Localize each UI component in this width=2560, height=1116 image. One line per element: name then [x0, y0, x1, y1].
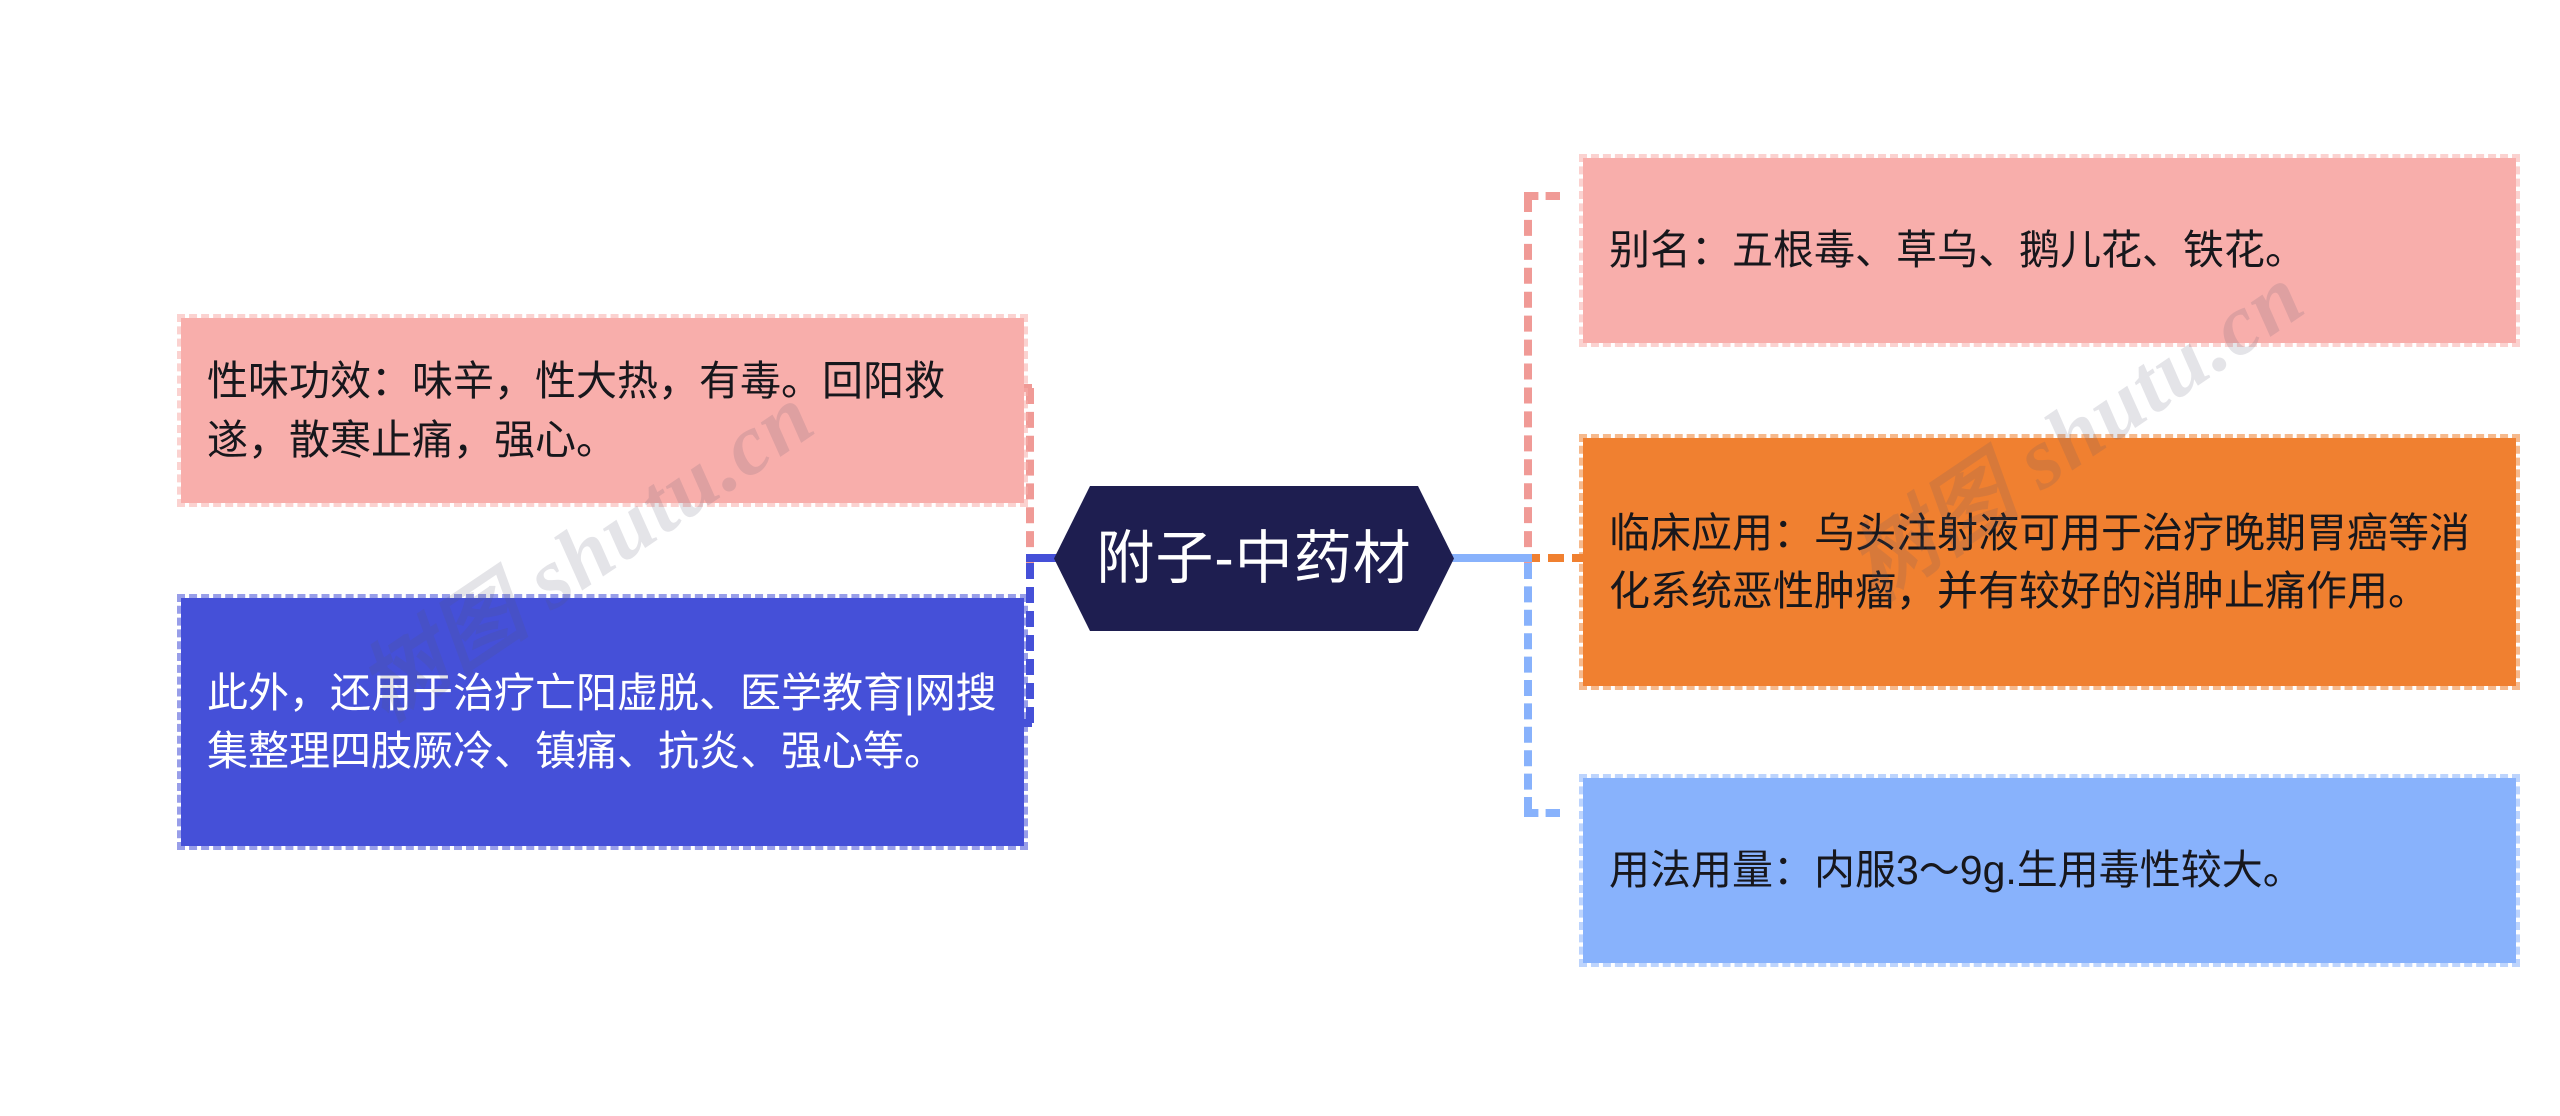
topic-label-linchuang-yingyong: 临床应用：乌头注射液可用于治疗晚期胃癌等消化系统恶性肿瘤，并有较好的消肿止痛作用…: [1609, 504, 2494, 620]
topic-box-xingwei-gongxiao[interactable]: 性味功效：味辛，性大热，有毒。回阳救遂，散寒止痛，强心。: [181, 318, 1024, 503]
topic-label-bieming: 别名：五根毒、草乌、鹅儿花、铁花。: [1609, 221, 2494, 279]
connector-right-hub-line: [1442, 554, 1532, 562]
topic-label-xingwei-gongxiao: 性味功效：味辛，性大热，有毒。回阳救遂，散寒止痛，强心。: [207, 352, 1002, 468]
connector-right-lightblue-spine: [1524, 563, 1532, 813]
topic-label-yongfa-yongliang: 用法用量：内服3～9g.生用毒性较大。: [1609, 841, 2494, 899]
mindmap-canvas: 附子-中药材 性味功效：味辛，性大热，有毒。回阳救遂，散寒止痛，强心。 此外，还…: [0, 0, 2560, 1116]
topic-box-yongfa-yongliang[interactable]: 用法用量：内服3～9g.生用毒性较大。: [1583, 778, 2516, 963]
topic-box-linchuang-yingyong[interactable]: 临床应用：乌头注射液可用于治疗晚期胃癌等消化系统恶性肿瘤，并有较好的消肿止痛作用…: [1583, 438, 2516, 686]
connector-right-orange-stub: [1524, 554, 1588, 562]
connector-left-blue-spine: [1026, 563, 1034, 723]
topic-box-bieming[interactable]: 别名：五根毒、草乌、鹅儿花、铁花。: [1583, 158, 2516, 343]
central-topic-node[interactable]: 附子-中药材: [1054, 486, 1454, 631]
connector-right-pink-stub: [1524, 192, 1560, 200]
connector-left-pink-spine: [1026, 388, 1034, 571]
topic-box-qita-zhiliao[interactable]: 此外，还用于治疗亡阳虚脱、医学教育|网搜集整理四肢厥冷、镇痛、抗炎、强心等。: [181, 598, 1024, 846]
connector-right-pink-spine: [1524, 196, 1532, 571]
connector-right-lightblue-stub: [1524, 809, 1560, 817]
central-topic-label: 附子-中药材: [1096, 530, 1411, 588]
topic-label-qita-zhiliao: 此外，还用于治疗亡阳虚脱、医学教育|网搜集整理四肢厥冷、镇痛、抗炎、强心等。: [207, 664, 1002, 780]
